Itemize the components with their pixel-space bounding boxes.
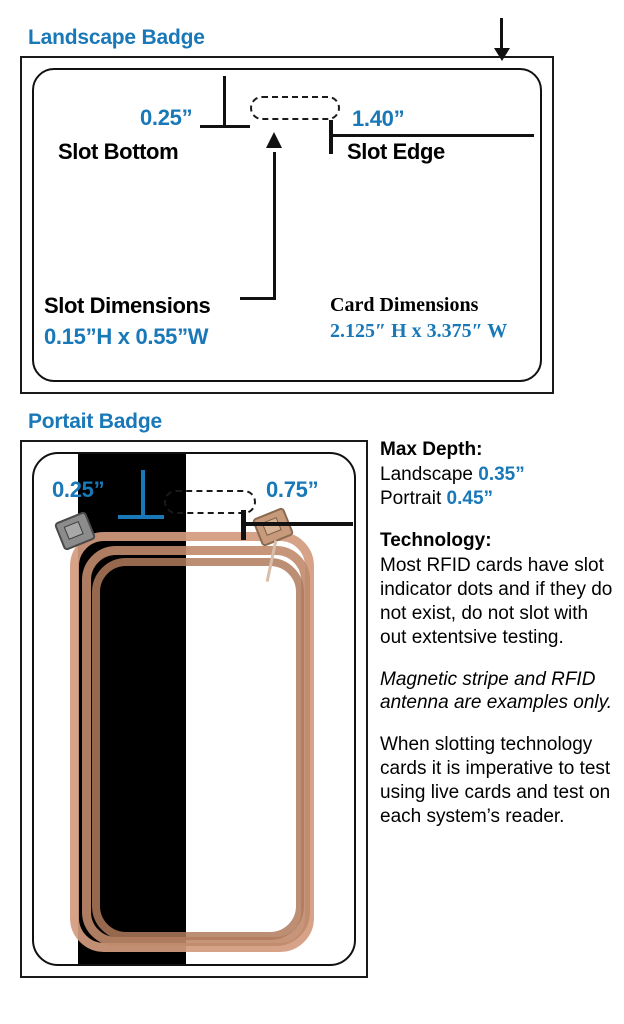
testing-requirement-note: When slotting technology cards it is imp… xyxy=(380,733,618,829)
card-dimensions-value: 2.125″ H x 3.375″ W xyxy=(330,320,507,343)
landscape-slot-edge-tick xyxy=(329,120,333,154)
landscape-slot-edge-label: Slot Edge xyxy=(347,139,445,165)
card-dimensions-label: Card Dimensions xyxy=(330,294,478,317)
technology-body-text: Most RFID cards have slot indicator dots… xyxy=(380,554,618,650)
slot-dimensions-arrow-head xyxy=(266,132,282,148)
max-depth-landscape-value: 0.35” xyxy=(478,464,524,485)
landscape-slot-outline xyxy=(250,96,340,120)
landscape-slot-bottom-leader-base xyxy=(200,125,250,128)
portrait-badge-frame xyxy=(20,440,368,978)
info-panel: Max Depth: Landscape 0.35” Portrait 0.45… xyxy=(380,438,618,829)
landscape-slot-edge-rule xyxy=(329,134,534,137)
card-top-edge-arrow-head xyxy=(494,48,510,61)
slot-dimensions-arrow-shaft xyxy=(273,152,276,300)
portrait-slot-edge-dimension: 0.75” xyxy=(266,477,318,503)
info-spacer-3 xyxy=(380,715,618,733)
landscape-slot-bottom-label: Slot Bottom xyxy=(58,139,178,165)
max-depth-landscape-label: Landscape xyxy=(380,464,473,485)
portrait-slot-bottom-leader-base xyxy=(118,515,164,519)
portrait-slot-bottom-leader-vertical xyxy=(141,470,145,518)
info-spacer-1 xyxy=(380,511,618,529)
portrait-slot-bottom-dimension: 0.25” xyxy=(52,477,104,503)
examples-only-note: Magnetic stripe and RFID antenna are exa… xyxy=(380,668,618,716)
max-depth-heading: Max Depth: xyxy=(380,438,618,462)
landscape-slot-edge-dimension: 1.40” xyxy=(352,106,404,132)
max-depth-portrait-row: Portrait 0.45” xyxy=(380,487,618,511)
landscape-slot-bottom-dimension: 0.25” xyxy=(140,105,192,131)
landscape-slot-bottom-leader-vertical xyxy=(223,76,226,128)
landscape-section-title: Landscape Badge xyxy=(28,26,205,50)
slot-dimensions-label: Slot Dimensions xyxy=(44,293,210,319)
portrait-slot-edge-rule xyxy=(241,522,353,526)
slot-dimensions-value: 0.15”H x 0.55”W xyxy=(44,324,208,350)
technology-heading: Technology: xyxy=(380,529,618,553)
max-depth-landscape-row: Landscape 0.35” xyxy=(380,463,618,487)
slot-dimensions-arrow-foot xyxy=(240,297,276,300)
max-depth-portrait-value: 0.45” xyxy=(447,488,493,509)
info-spacer-2 xyxy=(380,650,618,668)
portrait-card-outline xyxy=(32,452,356,966)
rfid-antenna-coil-inner xyxy=(92,558,304,940)
max-depth-portrait-label: Portrait xyxy=(380,488,441,509)
card-top-edge-arrow-shaft xyxy=(500,18,503,52)
portrait-section-title: Portait Badge xyxy=(28,410,162,434)
